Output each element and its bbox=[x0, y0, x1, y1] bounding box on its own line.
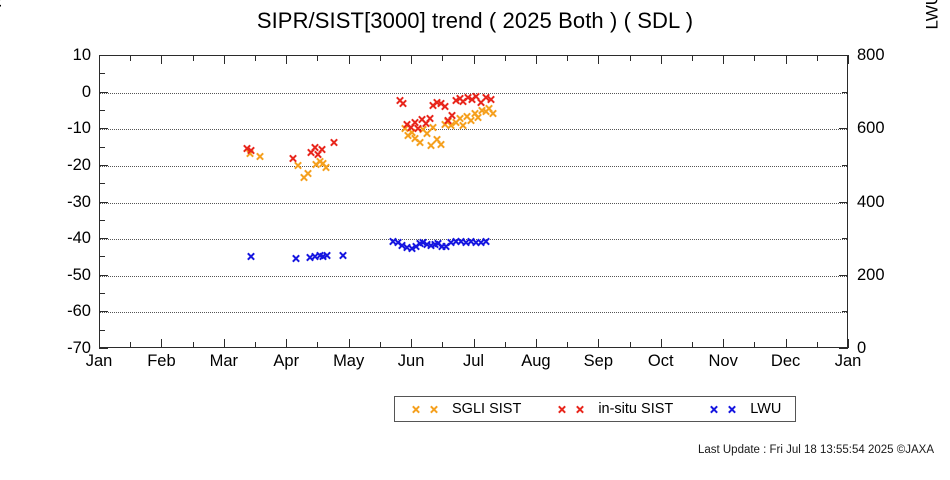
x-tick-minor bbox=[754, 342, 755, 348]
y-tick-major bbox=[99, 128, 108, 129]
x-axis-tick-label: Oct bbox=[631, 352, 691, 371]
data-point bbox=[321, 163, 330, 172]
y-axis-left-title: Temperature(°C) bbox=[0, 0, 6, 78]
legend-marker-glyph bbox=[728, 405, 737, 414]
gridline bbox=[100, 203, 847, 204]
y-tick-right-minor bbox=[842, 238, 848, 239]
x-tick-major-top bbox=[661, 55, 662, 64]
y-tick-minor bbox=[99, 147, 105, 148]
y-axis-left-tick-label: 0 bbox=[31, 84, 91, 101]
y-tick-minor bbox=[99, 293, 105, 294]
y-axis-right-tick-label: 200 bbox=[857, 267, 917, 284]
y-tick-minor bbox=[99, 110, 105, 111]
x-tick-minor bbox=[317, 342, 318, 348]
data-point bbox=[291, 254, 300, 263]
y-tick-major bbox=[99, 275, 108, 276]
data-point bbox=[415, 138, 424, 147]
x-tick-minor bbox=[255, 342, 256, 348]
x-tick-major bbox=[286, 339, 287, 348]
y-axis-right-title-prefix: LWU(W/m bbox=[923, 0, 942, 29]
y-tick-major bbox=[99, 238, 108, 239]
x-tick-minor-top bbox=[754, 55, 755, 61]
x-tick-major bbox=[161, 339, 162, 348]
legend-marker-glyph bbox=[430, 405, 439, 414]
data-point bbox=[481, 237, 490, 246]
legend-item[interactable]: SGLI SIST bbox=[409, 401, 521, 417]
x-tick-minor-top bbox=[692, 55, 693, 61]
y-tick-right-minor bbox=[842, 311, 848, 312]
legend-marker-glyph bbox=[412, 405, 421, 414]
y-tick-minor bbox=[99, 183, 105, 184]
x-axis-tick-label: Sep bbox=[568, 352, 628, 371]
x-tick-minor bbox=[442, 342, 443, 348]
x-tick-minor-top bbox=[130, 55, 131, 61]
x-axis-tick-label: Jan bbox=[818, 352, 878, 371]
chart-title: SIPR/SIST[3000] trend ( 2025 Both ) ( SD… bbox=[0, 8, 950, 34]
x-tick-minor-top bbox=[380, 55, 381, 61]
y-axis-right-tick-label: 600 bbox=[857, 120, 917, 137]
x-tick-minor bbox=[380, 342, 381, 348]
x-tick-major bbox=[411, 339, 412, 348]
x-axis-tick-label: Jan bbox=[69, 352, 129, 371]
legend-marker-glyph bbox=[710, 405, 719, 414]
y-axis-left-tick-label: 10 bbox=[31, 47, 91, 64]
y-tick-minor bbox=[99, 256, 105, 257]
x-tick-major-top bbox=[786, 55, 787, 64]
legend-item[interactable]: in-situ SIST bbox=[555, 401, 673, 417]
x-tick-minor bbox=[630, 342, 631, 348]
y-tick-major bbox=[99, 92, 108, 93]
legend-marker bbox=[409, 403, 443, 415]
x-tick-major-top bbox=[286, 55, 287, 64]
legend-marker bbox=[555, 403, 589, 415]
gridline bbox=[100, 129, 847, 130]
y-tick-major bbox=[99, 55, 108, 56]
data-point bbox=[489, 109, 498, 118]
x-tick-major bbox=[224, 339, 225, 348]
chart-canvas: SIPR/SIST[3000] trend ( 2025 Both ) ( SD… bbox=[0, 0, 950, 480]
y-axis-left-tick-label: -30 bbox=[31, 194, 91, 211]
data-point bbox=[399, 99, 408, 108]
gridline bbox=[100, 166, 847, 167]
gridline bbox=[100, 312, 847, 313]
data-point bbox=[486, 95, 495, 104]
x-tick-major-top bbox=[411, 55, 412, 64]
x-tick-major-top bbox=[536, 55, 537, 64]
y-axis-left-tick-label: -50 bbox=[31, 267, 91, 284]
x-tick-minor bbox=[193, 342, 194, 348]
y-tick-right-minor bbox=[842, 165, 848, 166]
data-point bbox=[440, 102, 449, 111]
x-tick-minor bbox=[567, 342, 568, 348]
y-axis-left-tick-label: -10 bbox=[31, 120, 91, 137]
data-point bbox=[448, 111, 457, 120]
legend-label: in-situ SIST bbox=[598, 401, 673, 417]
legend-label: SGLI SIST bbox=[452, 401, 521, 417]
x-tick-major bbox=[536, 339, 537, 348]
x-tick-minor-top bbox=[317, 55, 318, 61]
data-point bbox=[330, 138, 339, 147]
y-axis-left-tick-label: -20 bbox=[31, 157, 91, 174]
x-tick-major-top bbox=[99, 55, 100, 64]
y-tick-major bbox=[99, 202, 108, 203]
x-tick-major-top bbox=[723, 55, 724, 64]
y-tick-major bbox=[99, 348, 108, 349]
y-axis-left-tick-label: -40 bbox=[31, 230, 91, 247]
y-tick-right-major bbox=[839, 202, 848, 203]
y-tick-right-major bbox=[839, 128, 848, 129]
y-tick-minor bbox=[99, 73, 105, 74]
x-tick-major bbox=[661, 339, 662, 348]
x-tick-major-top bbox=[349, 55, 350, 64]
x-axis-tick-label: Apr bbox=[256, 352, 316, 371]
data-point bbox=[256, 152, 265, 161]
x-tick-major-top bbox=[474, 55, 475, 64]
y-tick-minor bbox=[99, 220, 105, 221]
legend: SGLI SISTin-situ SISTLWU bbox=[394, 396, 796, 422]
x-tick-major bbox=[848, 339, 849, 348]
x-axis-tick-label: Aug bbox=[506, 352, 566, 371]
data-point bbox=[339, 251, 348, 260]
x-tick-minor-top bbox=[567, 55, 568, 61]
x-tick-major-top bbox=[161, 55, 162, 64]
x-axis-tick-label: Jun bbox=[381, 352, 441, 371]
x-tick-major-top bbox=[848, 55, 849, 64]
y-tick-minor bbox=[99, 330, 105, 331]
data-point bbox=[289, 154, 298, 163]
y-tick-right-major bbox=[839, 348, 848, 349]
x-tick-minor-top bbox=[817, 55, 818, 61]
x-tick-minor bbox=[505, 342, 506, 348]
x-tick-major bbox=[474, 339, 475, 348]
y-tick-right-minor bbox=[842, 92, 848, 93]
x-axis-tick-label: Nov bbox=[693, 352, 753, 371]
y-tick-right-major bbox=[839, 55, 848, 56]
y-axis-right-title: LWU(W/m2) bbox=[922, 0, 943, 110]
x-tick-minor-top bbox=[630, 55, 631, 61]
y-axis-right-tick-label: 400 bbox=[857, 194, 917, 211]
legend-marker-glyph bbox=[558, 405, 567, 414]
y-tick-major bbox=[99, 165, 108, 166]
y-tick-major bbox=[99, 311, 108, 312]
x-tick-minor-top bbox=[442, 55, 443, 61]
x-axis-tick-label: Feb bbox=[131, 352, 191, 371]
x-tick-minor bbox=[692, 342, 693, 348]
x-axis-tick-label: Jul bbox=[444, 352, 504, 371]
data-point bbox=[247, 252, 256, 261]
y-tick-right-major bbox=[839, 275, 848, 276]
gridline bbox=[100, 276, 847, 277]
x-tick-major bbox=[786, 339, 787, 348]
x-tick-major bbox=[723, 339, 724, 348]
x-tick-minor-top bbox=[255, 55, 256, 61]
y-axis-left-tick-label: -60 bbox=[31, 303, 91, 320]
y-axis-right-tick-label: 800 bbox=[857, 47, 917, 64]
data-point bbox=[425, 114, 434, 123]
plot-area bbox=[99, 55, 848, 348]
x-tick-major-top bbox=[598, 55, 599, 64]
x-tick-minor bbox=[130, 342, 131, 348]
footer-last-update: Last Update : Fri Jul 18 13:55:54 2025 ©… bbox=[698, 444, 934, 456]
legend-marker bbox=[707, 403, 741, 415]
x-tick-major-top bbox=[224, 55, 225, 64]
data-point bbox=[247, 146, 256, 155]
x-axis-tick-label: Dec bbox=[756, 352, 816, 371]
x-tick-minor-top bbox=[505, 55, 506, 61]
legend-item[interactable]: LWU bbox=[707, 401, 781, 417]
data-point bbox=[303, 169, 312, 178]
x-tick-major bbox=[349, 339, 350, 348]
data-point bbox=[317, 145, 326, 154]
x-axis-tick-label: May bbox=[319, 352, 379, 371]
legend-marker-glyph bbox=[576, 405, 585, 414]
x-tick-minor-top bbox=[193, 55, 194, 61]
x-tick-major bbox=[598, 339, 599, 348]
x-tick-minor bbox=[817, 342, 818, 348]
legend-label: LWU bbox=[750, 401, 781, 417]
x-tick-major bbox=[99, 339, 100, 348]
data-point bbox=[323, 251, 332, 260]
x-axis-tick-label: Mar bbox=[194, 352, 254, 371]
data-point bbox=[436, 140, 445, 149]
